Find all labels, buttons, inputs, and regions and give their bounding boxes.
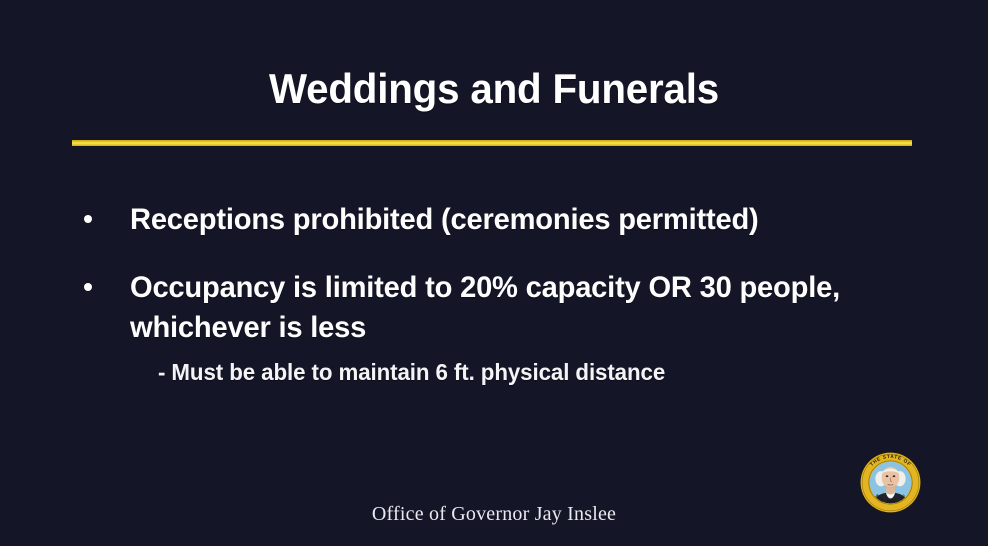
footer-credit: Office of Governor Jay Inslee	[0, 503, 988, 526]
bullet-dot-icon	[84, 215, 92, 223]
bullet-list: Receptions prohibited (ceremonies permit…	[0, 200, 988, 388]
list-item: Receptions prohibited (ceremonies permit…	[0, 200, 988, 240]
bullet-dot-icon	[84, 283, 92, 291]
slide-title: Weddings and Funerals	[20, 66, 968, 112]
svg-text:1889: 1889	[886, 498, 896, 503]
list-item-text: Occupancy is limited to 20% capacity OR …	[130, 268, 894, 348]
list-item-text: Receptions prohibited (ceremonies permit…	[130, 200, 894, 240]
list-item: Occupancy is limited to 20% capacity OR …	[0, 268, 988, 348]
sub-list-item-text: - Must be able to maintain 6 ft. physica…	[158, 358, 905, 388]
presentation-slide: Weddings and Funerals Receptions prohibi…	[0, 0, 988, 546]
washington-state-seal-icon: THE STATE OF THE SEAL OF 1889	[859, 451, 922, 514]
title-divider-rule	[72, 140, 912, 146]
sub-list-item: - Must be able to maintain 6 ft. physica…	[0, 358, 988, 388]
